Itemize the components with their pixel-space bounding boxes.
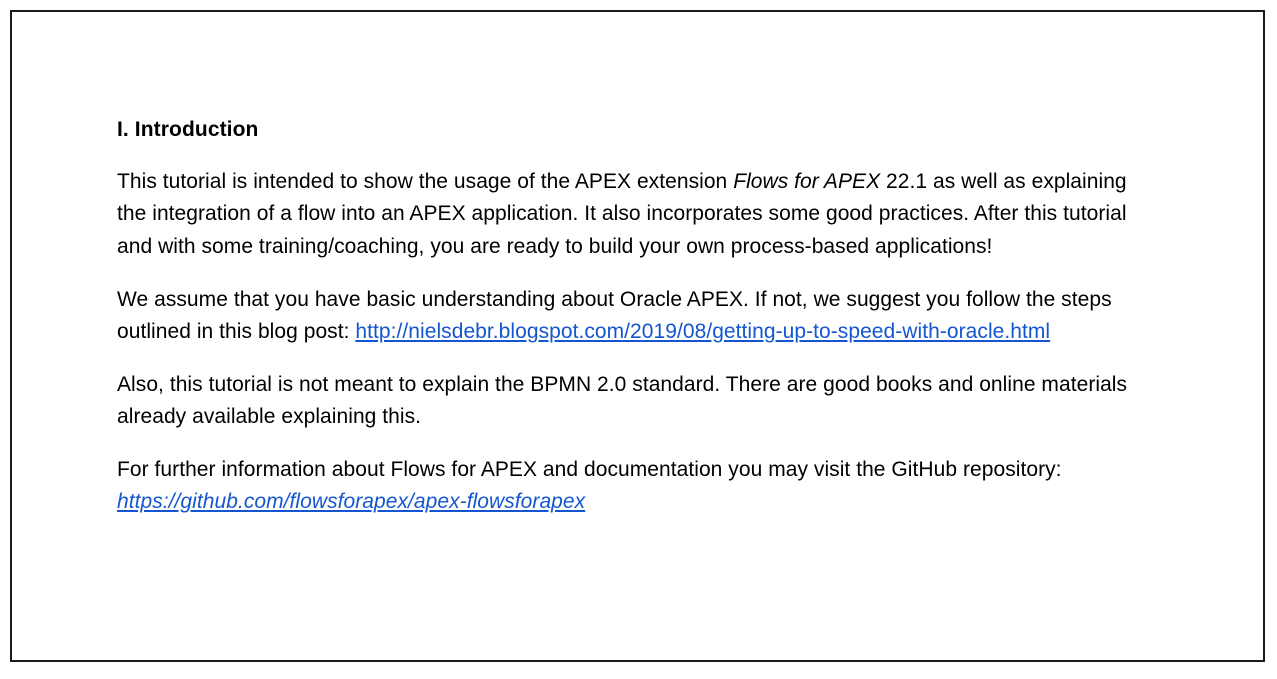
paragraph-text-segment: Also, this tutorial is not meant to expl… xyxy=(117,373,1127,429)
section-heading-introduction: I. Introduction xyxy=(117,117,1147,144)
emphasis-flows-for-apex: Flows for APEX xyxy=(733,170,880,193)
paragraph-github-reference: For further information about Flows for … xyxy=(117,454,1147,519)
paragraph-text-segment: For further information about Flows for … xyxy=(117,458,1062,481)
document-page-frame: I. Introduction This tutorial is intende… xyxy=(10,10,1265,662)
document-body: I. Introduction This tutorial is intende… xyxy=(117,117,1147,519)
paragraph-apex-prerequisites: We assume that you have basic understand… xyxy=(117,284,1147,349)
paragraph-text-segment: This tutorial is intended to show the us… xyxy=(117,170,733,193)
paragraph-tutorial-purpose: This tutorial is intended to show the us… xyxy=(117,166,1147,264)
github-repository-link[interactable]: https://github.com/flowsforapex/apex-flo… xyxy=(117,490,585,513)
blog-post-link[interactable]: http://nielsdebr.blogspot.com/2019/08/ge… xyxy=(355,320,1050,343)
paragraph-bpmn-scope: Also, this tutorial is not meant to expl… xyxy=(117,369,1147,434)
